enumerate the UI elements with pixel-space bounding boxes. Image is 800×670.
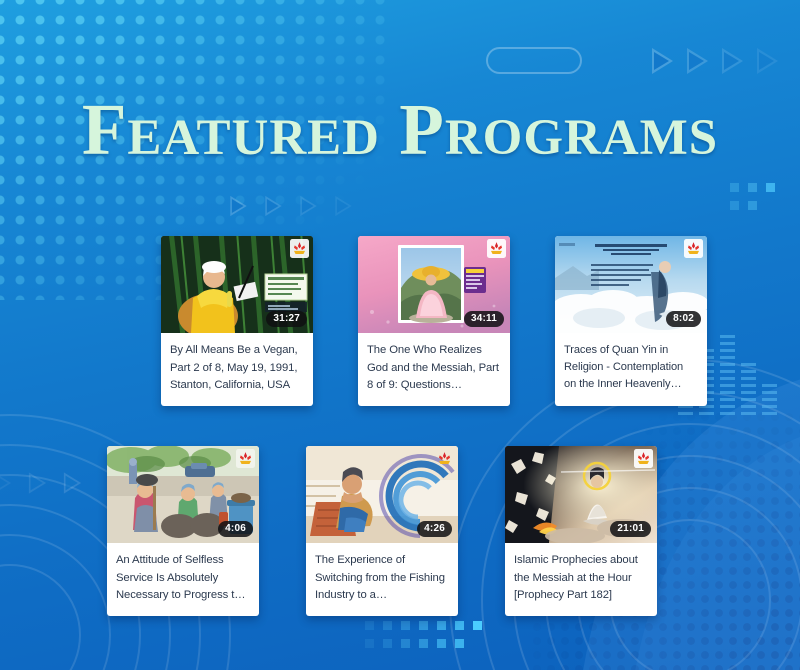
program-thumbnail[interactable]: 8:02	[555, 236, 707, 333]
duration-badge: 21:01	[610, 521, 651, 538]
duration-badge: 4:06	[218, 521, 253, 538]
play-triangle-icon	[652, 48, 673, 74]
channel-logo-icon	[290, 239, 309, 258]
play-arrows-middle-left	[228, 193, 354, 219]
program-title[interactable]: Traces of Quan Yin in Religion - Contemp…	[555, 333, 707, 405]
duration-badge: 4:26	[417, 521, 452, 538]
duration-badge: 31:27	[266, 311, 307, 328]
square-dots-right	[730, 183, 775, 210]
featured-programs-banner: Featured Programs	[0, 0, 800, 670]
program-card-row-2: 4:06 An Attitude of Selfless Service Is …	[107, 446, 657, 616]
channel-logo-icon	[487, 239, 506, 258]
program-card[interactable]: 8:02 Traces of Quan Yin in Religion - Co…	[555, 236, 707, 406]
duration-badge: 8:02	[666, 311, 701, 328]
program-thumbnail[interactable]: 34:11	[358, 236, 510, 333]
square-dot-icon	[455, 621, 464, 630]
square-dot-icon	[730, 201, 739, 210]
program-thumbnail[interactable]: 21:01	[505, 446, 657, 543]
square-dot-icon	[455, 639, 464, 648]
square-dot-icon	[730, 183, 739, 192]
square-dot-icon	[473, 639, 482, 648]
play-triangle-icon	[230, 196, 246, 216]
play-triangle-icon	[300, 196, 316, 216]
play-triangle-icon	[64, 472, 81, 493]
program-thumbnail[interactable]: 31:27	[161, 236, 313, 333]
square-dot-icon	[419, 621, 428, 630]
square-dot-icon	[766, 183, 775, 192]
square-dot-icon	[748, 201, 757, 210]
program-card[interactable]: 4:06 An Attitude of Selfless Service Is …	[107, 446, 259, 616]
program-thumbnail[interactable]: 4:06	[107, 446, 259, 543]
channel-logo-icon	[684, 239, 703, 258]
play-triangle-icon	[757, 48, 778, 74]
square-dot-icon	[365, 621, 374, 630]
program-title[interactable]: The Experience of Switching from the Fis…	[306, 543, 458, 616]
program-title[interactable]: An Attitude of Selfless Service Is Absol…	[107, 543, 259, 616]
play-triangle-icon	[687, 48, 708, 74]
program-card[interactable]: 4:26 The Experience of Switching from th…	[306, 446, 458, 616]
channel-logo-icon	[634, 449, 653, 468]
square-dot-icon	[401, 621, 410, 630]
square-dot-icon	[419, 639, 428, 648]
square-dot-icon	[383, 621, 392, 630]
play-triangle-icon	[29, 472, 46, 493]
square-dot-icon	[437, 639, 446, 648]
program-card-row-1: 31:27 By All Means Be a Vegan, Part 2 of…	[161, 236, 707, 406]
square-dot-icon	[766, 201, 775, 210]
program-title[interactable]: The One Who Realizes God and the Messiah…	[358, 333, 510, 406]
program-card[interactable]: 21:01 Islamic Prophecies about the Messi…	[505, 446, 657, 616]
channel-logo-icon	[435, 449, 454, 468]
play-triangle-icon	[0, 472, 11, 493]
program-card[interactable]: 31:27 By All Means Be a Vegan, Part 2 of…	[161, 236, 313, 406]
program-title[interactable]: Islamic Prophecies about the Messiah at …	[505, 543, 657, 616]
square-dot-icon	[365, 639, 374, 648]
duration-badge: 34:11	[464, 311, 504, 328]
square-dot-icon	[437, 621, 446, 630]
page-title: Featured Programs	[0, 93, 800, 166]
program-title[interactable]: By All Means Be a Vegan, Part 2 of 8, Ma…	[161, 333, 313, 406]
program-thumbnail[interactable]: 4:26	[306, 446, 458, 543]
square-dots-bottom	[365, 621, 482, 648]
square-dot-icon	[473, 621, 482, 630]
play-arrows-top-right	[652, 48, 778, 74]
play-triangle-icon	[335, 196, 351, 216]
square-dot-icon	[748, 183, 757, 192]
square-dot-icon	[383, 639, 392, 648]
play-arrows-bottom-left	[0, 470, 83, 496]
channel-logo-icon	[236, 449, 255, 468]
square-dot-icon	[401, 639, 410, 648]
program-card[interactable]: 34:11 The One Who Realizes God and the M…	[358, 236, 510, 406]
play-triangle-icon	[265, 196, 281, 216]
rounded-pill-outline-icon	[486, 47, 582, 74]
play-triangle-icon	[722, 48, 743, 74]
